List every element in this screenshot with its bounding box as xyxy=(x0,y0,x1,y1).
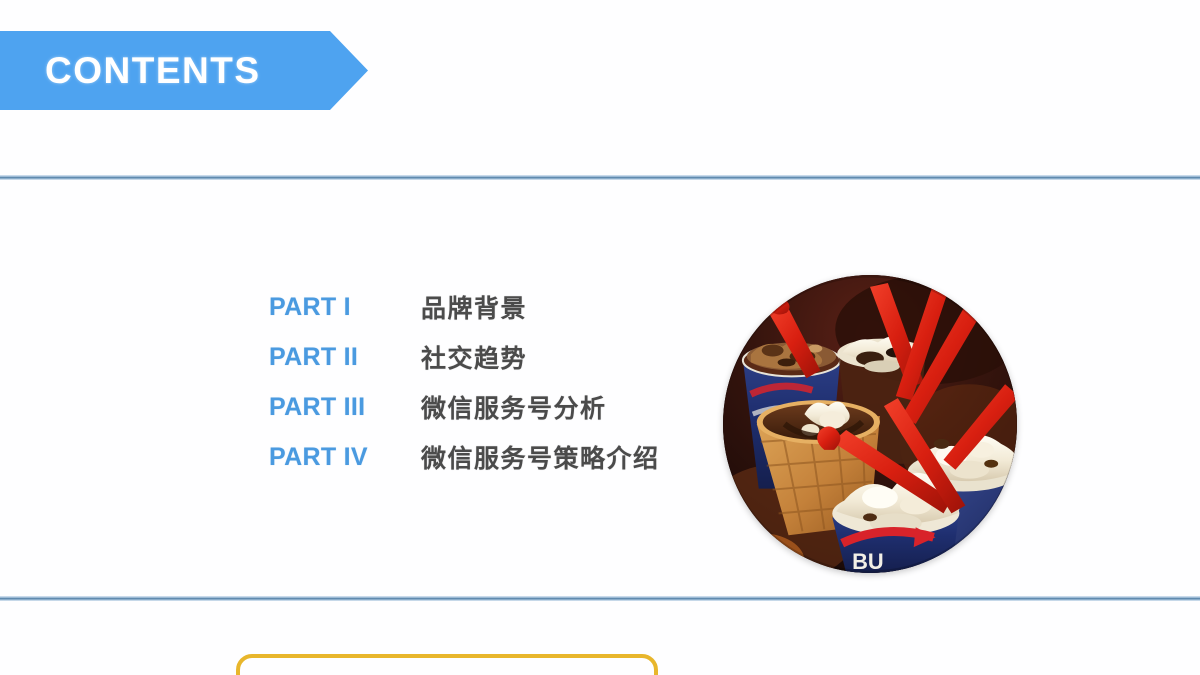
divider-top xyxy=(0,175,1200,180)
contents-item-part-4[interactable]: PART IV 微信服务号策略介绍 xyxy=(236,432,706,482)
part-title: 社交趋势 xyxy=(421,339,527,375)
ice-cream-photo: BU xyxy=(723,275,1017,573)
ice-cream-photo-graphic: BU xyxy=(723,275,1017,573)
contents-item-part-2[interactable]: PART II 社交趋势 xyxy=(236,332,706,382)
part-title: 微信服务号策略介绍 xyxy=(421,439,660,475)
slide-canvas: CONTENTS PART I 品牌背景 PART II 社交趋势 PART I… xyxy=(0,0,1200,675)
svg-text:BU: BU xyxy=(852,549,884,573)
contents-list: PART I 品牌背景 PART II 社交趋势 PART III 微信服务号分… xyxy=(236,282,706,482)
part-label: PART I xyxy=(269,293,421,322)
contents-item-part-1[interactable]: PART I 品牌背景 xyxy=(236,282,706,332)
part-title: 微信服务号分析 xyxy=(421,389,607,425)
page-title: CONTENTS xyxy=(45,52,261,89)
part-label: PART III xyxy=(269,393,421,422)
part-label: PART IV xyxy=(269,443,421,472)
header-banner: CONTENTS xyxy=(0,31,368,110)
selected-item-highlight xyxy=(236,654,658,675)
part-label: PART II xyxy=(269,343,421,372)
divider-bottom xyxy=(0,596,1200,601)
part-title: 品牌背景 xyxy=(421,289,527,325)
contents-item-part-3[interactable]: PART III 微信服务号分析 xyxy=(236,382,706,432)
